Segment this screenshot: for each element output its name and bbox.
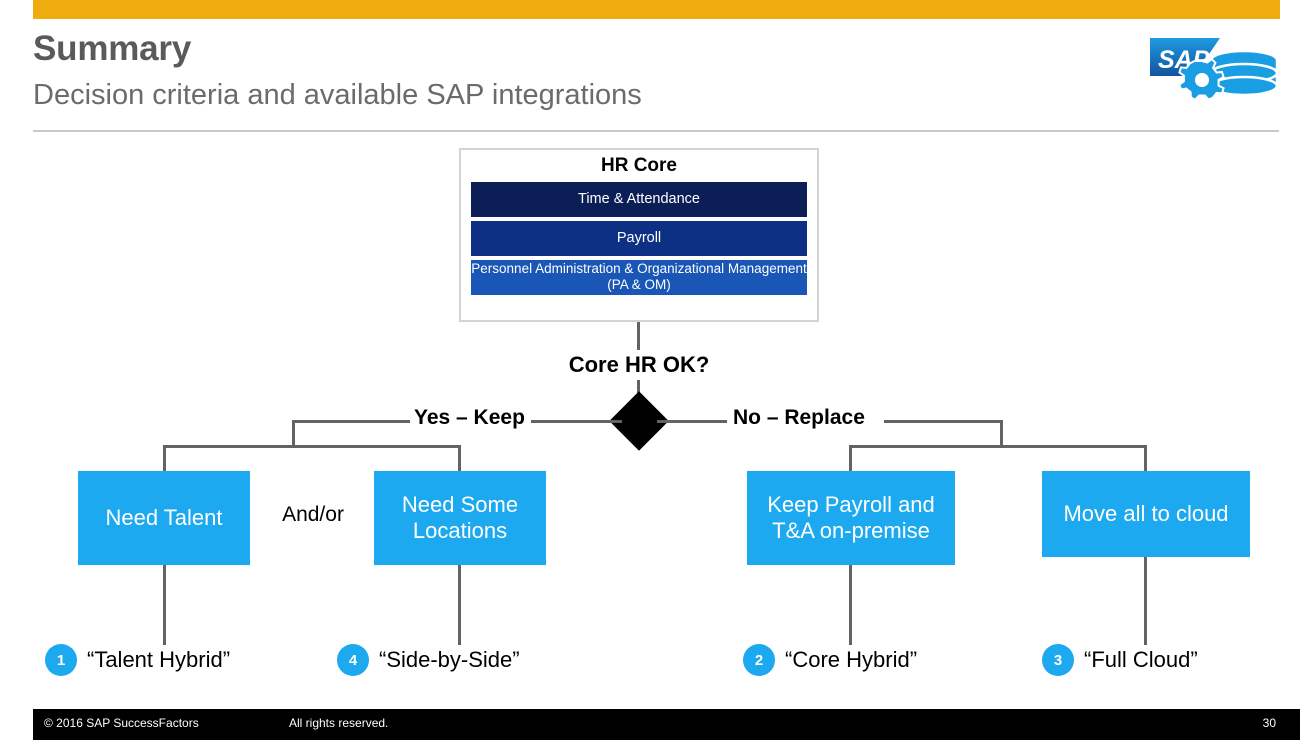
slide-footer: © 2016 SAP SuccessFactors All rights res…	[33, 709, 1300, 740]
branch-label-no: No – Replace	[727, 406, 871, 430]
footer-copyright: © 2016 SAP SuccessFactors	[44, 716, 199, 730]
header-divider	[33, 130, 1279, 132]
hr-core-panel: HR Core Time & Attendance Payroll Person…	[459, 148, 819, 322]
slide-canvas: Summary Decision criteria and available …	[0, 0, 1300, 740]
page-subtitle: Decision criteria and available SAP inte…	[33, 80, 642, 112]
outcome-badge-2: 2	[743, 644, 775, 676]
option-box-keep-payroll-ta-on-premise[interactable]: Keep Payroll and T&A on-premise	[747, 471, 955, 565]
connector-yes-drop	[292, 420, 295, 448]
connector-diamond-right-arm	[657, 420, 737, 423]
footer-page-number: 30	[1263, 716, 1276, 730]
connector-cloud-to-outcome	[1144, 557, 1147, 645]
option-box-need-talent[interactable]: Need Talent	[78, 471, 250, 565]
option-box-move-all-to-cloud[interactable]: Move all to cloud	[1042, 471, 1250, 557]
hr-core-title: HR Core	[461, 155, 817, 178]
connector-yes-bracket	[163, 445, 461, 448]
outcome-label-1: “Talent Hybrid”	[87, 647, 230, 673]
outcome-full-cloud[interactable]: 3 “Full Cloud”	[1042, 644, 1198, 676]
outcome-core-hybrid[interactable]: 2 “Core Hybrid”	[743, 644, 917, 676]
outcome-badge-4: 4	[337, 644, 369, 676]
connector-no-drop	[1000, 420, 1003, 448]
connector-no-bracket	[849, 445, 1147, 448]
connector-locations-to-outcome	[458, 565, 461, 645]
outcome-label-4: “Side-by-Side”	[379, 647, 520, 673]
top-accent-bar	[33, 0, 1280, 19]
connector-onprem-drop	[849, 445, 852, 473]
outcome-label-2: “Core Hybrid”	[785, 647, 917, 673]
hr-core-layer-payroll: Payroll	[471, 221, 807, 256]
option-connector-andor: And/or	[266, 503, 360, 527]
hr-core-layer-time-attendance: Time & Attendance	[471, 182, 807, 217]
outcome-badge-1: 1	[45, 644, 77, 676]
branch-label-yes: Yes – Keep	[408, 406, 531, 430]
page-title: Summary	[33, 31, 191, 68]
connector-no-horizontal	[884, 420, 1002, 423]
connector-cloud-drop	[1144, 445, 1147, 473]
decision-question: Core HR OK?	[519, 350, 759, 380]
connector-diamond-left-arm	[530, 420, 622, 423]
outcome-side-by-side[interactable]: 4 “Side-by-Side”	[337, 644, 520, 676]
hr-core-layer-pa-om: Personnel Administration & Organizationa…	[471, 260, 807, 295]
sap-database-gear-logo: SAP	[1148, 32, 1280, 104]
hr-core-layer-list: Time & Attendance Payroll Personnel Admi…	[461, 178, 817, 295]
outcome-talent-hybrid[interactable]: 1 “Talent Hybrid”	[45, 644, 230, 676]
connector-yes-horizontal	[293, 420, 410, 423]
connector-need-locations-drop	[458, 445, 461, 473]
connector-onprem-to-outcome	[849, 565, 852, 645]
outcome-label-3: “Full Cloud”	[1084, 647, 1198, 673]
outcome-badge-3: 3	[1042, 644, 1074, 676]
option-box-need-some-locations[interactable]: Need Some Locations	[374, 471, 546, 565]
connector-need-talent-drop	[163, 445, 166, 473]
connector-talent-to-outcome	[163, 565, 166, 645]
footer-rights: All rights reserved.	[289, 716, 388, 730]
